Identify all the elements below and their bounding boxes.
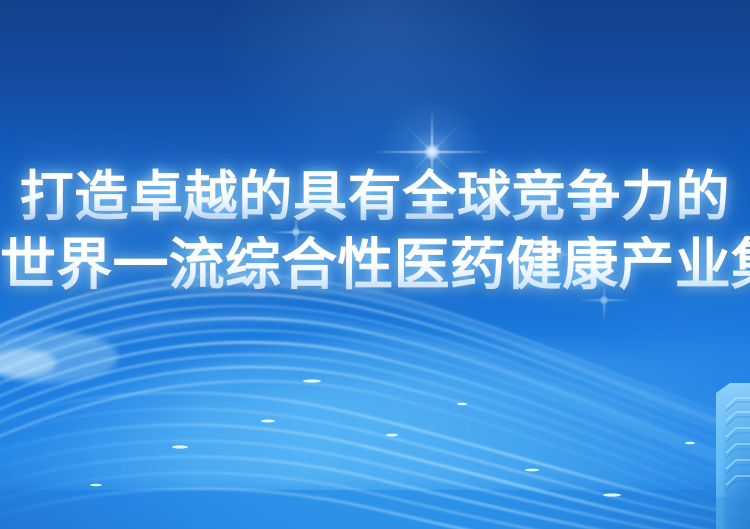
sparkle-icon-left	[269, 205, 323, 259]
glow-mid-left	[0, 127, 315, 413]
slogan-line-2: 世界一流综合性医药健康产业集团	[0, 236, 750, 296]
flare-ray-horizontal	[373, 151, 491, 153]
slogan-banner: 打造卓越的具有全球竞争力的 世界一流综合性医药健康产业集团	[0, 0, 750, 529]
flare-core	[424, 144, 440, 160]
sparkle-ray-horizontal	[270, 231, 322, 233]
flare-ray-vertical	[431, 109, 433, 195]
sparkle-ray-horizontal	[578, 299, 630, 301]
sparkle-core	[292, 228, 301, 237]
sparkle-ray-vertical	[559, 232, 561, 276]
glow-lower-center	[45, 286, 705, 529]
lens-flare-icon	[372, 92, 492, 212]
sparkle-icon-center	[539, 233, 581, 275]
vignette-overlay	[0, 0, 750, 529]
sparkle-ray-vertical	[603, 278, 605, 322]
flowing-light-streaks	[0, 229, 750, 529]
sparkle-ray-vertical	[295, 210, 297, 254]
slogan-headline: 打造卓越的具有全球竞争力的 世界一流综合性医药健康产业集团	[0, 168, 750, 297]
glow-top-center	[210, 0, 555, 190]
sparkle-core	[556, 250, 565, 259]
flare-ray-diagonal-2	[405, 125, 458, 178]
flare-halo	[377, 97, 487, 207]
glow-right	[510, 233, 750, 466]
sparkle-icon-right	[585, 281, 623, 319]
slogan-line-1: 打造卓越的具有全球竞争力的	[0, 168, 750, 226]
sparkle-ray-horizontal	[534, 253, 586, 255]
light-wave-band	[0, 300, 750, 490]
sparkle-core	[600, 296, 609, 305]
background-glow-layer	[0, 0, 750, 529]
skyscraper-silhouette	[716, 371, 750, 529]
flare-ray-diagonal-1	[405, 125, 458, 178]
